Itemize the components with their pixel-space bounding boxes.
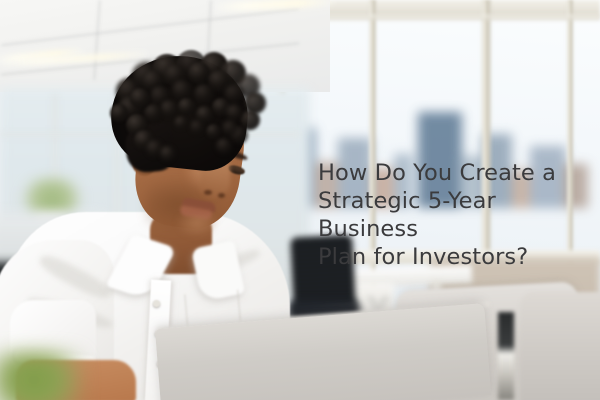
hair-curl [188,62,210,84]
hair-curl [172,80,192,100]
hair-curl [226,104,243,121]
hair-curl [160,146,175,161]
headline-text: How Do You Create a Strategic 5-Year Bus… [318,159,592,271]
nostril [218,193,225,198]
hair-curl [174,116,188,130]
hair-curl [160,100,178,118]
nostril [204,190,212,195]
hair-curl [178,98,195,115]
foreground-plant [0,352,82,400]
chin [176,216,218,238]
hair-curl [206,124,221,139]
cubicle-gap [498,312,514,400]
hair-curl [110,104,128,122]
hair-curl [216,138,232,154]
hair-curl [130,88,150,108]
hero-image: How Do You Create a Strategic 5-Year Bus… [0,0,600,400]
shirt-button [153,300,160,307]
hair-curl [194,84,214,104]
hair-curl [144,104,162,122]
hair-curl [222,120,238,136]
cubicle-divider [520,292,600,400]
hair-curl [190,120,204,134]
